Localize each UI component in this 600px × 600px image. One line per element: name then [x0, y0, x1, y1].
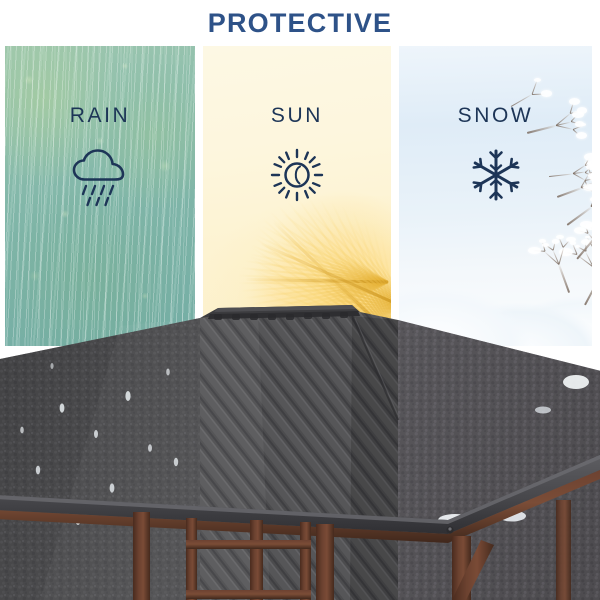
panel-sun: SUN: [203, 46, 391, 346]
snow-clump: [586, 164, 592, 170]
snow-branch-twig: [531, 80, 537, 94]
title-bar: PROTECTIVE: [0, 0, 600, 46]
panel-rain-label: RAIN: [5, 104, 195, 128]
snow-clump: [588, 173, 592, 178]
snow-branch-twig: [549, 173, 573, 177]
snow-branch-twig: [558, 264, 570, 293]
panel-rain: RAIN: [5, 46, 195, 346]
snow-clump: [585, 224, 592, 230]
snowflake-icon: [467, 146, 525, 209]
product-feature-graphic: PROTECTIVE RAIN: [0, 0, 600, 600]
snow-clump: [528, 247, 541, 254]
snow-branch-twig: [557, 187, 582, 197]
panel-sun-label: SUN: [203, 104, 391, 128]
snow-clump: [534, 78, 541, 82]
snow-clump: [542, 243, 549, 247]
panel-snow-label: SNOW: [399, 104, 592, 128]
snow-clump: [576, 132, 587, 139]
snow-branch-twig: [584, 269, 592, 305]
lower-background: [0, 470, 600, 600]
page-title: PROTECTIVE: [208, 10, 393, 37]
panel-snow: SNOW: [399, 46, 592, 346]
snow-branch-twig: [573, 174, 586, 182]
snow-clump: [583, 184, 592, 192]
snow-clump: [566, 237, 575, 242]
snow-clump: [552, 239, 559, 243]
sun-icon: [268, 146, 326, 209]
cloud-rain-icon: [67, 146, 133, 213]
snow-clump: [541, 90, 552, 96]
weather-panel-row: RAIN: [0, 46, 600, 346]
